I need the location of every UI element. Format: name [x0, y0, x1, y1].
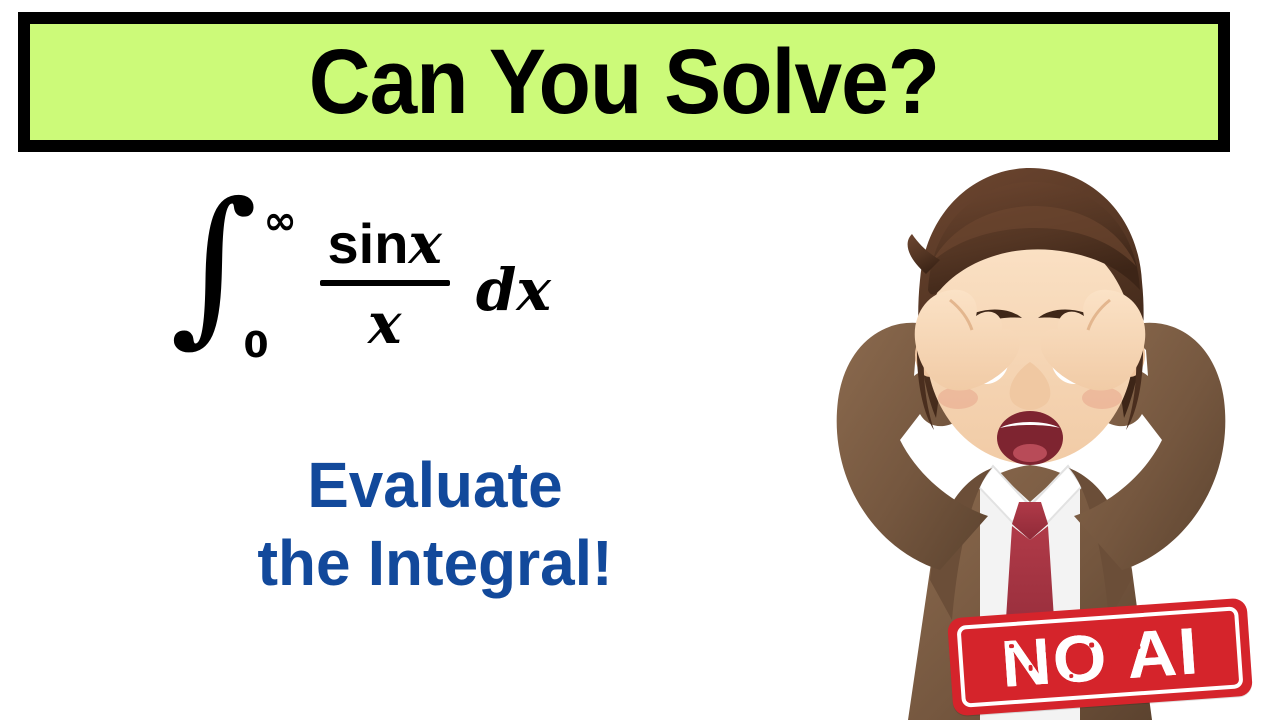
integral-lower-limit: 0	[244, 328, 269, 364]
page-title: Can You Solve?	[309, 36, 939, 128]
sin-label: sin	[328, 212, 409, 275]
integral-upper-limit: ∞	[264, 201, 297, 241]
stamp-label: NO AI	[999, 617, 1202, 697]
integral-group: ∫ ∞ 0 sinx x dx	[170, 195, 551, 370]
stamp-background: NO AI	[947, 598, 1253, 717]
no-ai-stamp: NO AI	[947, 598, 1253, 717]
cta-line-2: the Integral!	[149, 524, 721, 602]
numerator-variable: x	[408, 211, 441, 277]
integral-formula: ∫ ∞ 0 sinx x dx	[170, 190, 650, 375]
integral-limits: ∞ 0	[258, 195, 316, 370]
mouth	[997, 411, 1063, 465]
differential-dx: dx	[476, 256, 551, 324]
call-to-action: Evaluate the Integral!	[149, 446, 721, 602]
fraction-numerator: sinx	[320, 213, 450, 280]
cta-line-1: Evaluate	[149, 446, 721, 524]
fraction-denominator: x	[368, 286, 401, 356]
fraction: sinx x	[320, 195, 450, 370]
title-banner-inner: Can You Solve?	[30, 24, 1218, 140]
title-banner: Can You Solve?	[18, 12, 1230, 152]
